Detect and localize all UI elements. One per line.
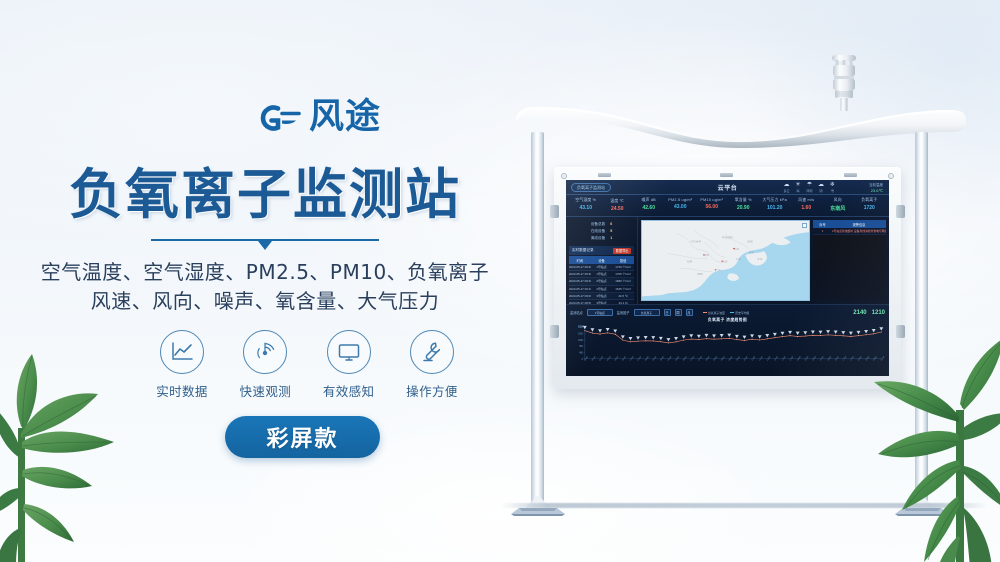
table-cell: 2023-05-17 09:00 [569,293,591,299]
table-cell: 1680 个/cm³ [612,278,634,284]
metric-cell: 氧含量 %20.90 [728,198,760,212]
svg-text:16:00: 16:00 [827,355,832,361]
range-button-month[interactable]: 月 [686,309,693,316]
metric-value: 24.50 [602,206,634,212]
feature-label: 快速观测 [231,381,299,400]
table-row[interactable]: 2023-05-17 09:102号站点1645 个/cm³ [569,286,634,293]
map-column: 乌鲁木齐呼和浩特 沈阳北京 西安拉萨 武汉上海 广州昆明 东京首尔 [638,217,813,304]
chart-legend: 负氧离子浓度历史平均值 [703,311,750,315]
station-select[interactable]: 1号站点 [587,309,613,316]
alarm-row[interactable]: 12号站点离线超时 设备离线请检查供电与网络 [813,228,886,235]
table-cell: 2023-05-17 09:30 [569,271,591,277]
svg-text:12:00: 12:00 [767,355,772,361]
chart-title: 负氧离子 浓度趋势图 [570,318,885,323]
feature-list: 实时数据 快速观测 有效感知 [148,330,466,400]
map-expand-button[interactable] [802,223,807,228]
metric-value: 101.20 [759,205,791,211]
table-cell: 1720 个/cm³ [612,264,634,270]
metric-label: 风向 [822,198,854,203]
weather-label: 阴 [817,189,826,193]
metric-label: PM10 ug/m³ [696,198,728,202]
svg-text:15:30: 15:30 [820,355,825,361]
weather-label: 多云 [782,189,791,193]
legend-swatch [730,312,734,314]
legend-item[interactable]: 历史平均值 [730,311,750,315]
table-header: 时间设备数值 [569,256,634,264]
sun-icon: ☀ [794,182,803,188]
metric-cell: PM2.5 ug/m³43.00 [665,198,697,212]
table-cell: 2023-05-17 09:40 [569,264,591,270]
dashboard-header: 负氧离子监测站 云平台 ☁ 多云 ☀ 晴 ☂ 阵雨 [566,180,889,195]
side-latch [550,205,559,218]
weather-label: 雪 [828,189,837,193]
table-cell: 1号站点 [591,264,613,270]
support-post-icon [915,132,928,504]
display-monitor: 负氧离子监测站 云平台 ☁ 多云 ☀ 晴 ☂ 阵雨 [554,167,901,389]
svg-text:呼和浩特: 呼和浩特 [722,236,733,239]
metric-value: 43.10 [570,205,602,211]
svg-text:昆明: 昆明 [697,272,703,275]
weather-item: ☀ 晴 [794,182,803,193]
svg-text:西安: 西安 [704,254,710,257]
metric-label: PM2.5 ug/m³ [665,198,697,202]
svg-text:广州: 广州 [715,269,721,272]
svg-text:19:30: 19:30 [881,355,885,361]
table-cell: 2023-05-17 09:20 [569,278,591,284]
alarm-index: 1 [813,228,832,234]
metric-cell: 大气压力 kPa101.20 [759,198,791,212]
metric-label: 大气压力 kPa [759,198,791,203]
metric-value: 20.90 [728,205,760,211]
svg-text:武汉: 武汉 [722,260,728,263]
feature-label: 操作方便 [398,381,466,400]
svg-text:拉萨: 拉萨 [687,260,693,263]
subtitle-line-1: 空气温度、空气湿度、PM2.5、PM10、负氧离子 [0,258,530,287]
side-latch [550,325,559,338]
alarm-col-message: 报警信息 [832,220,886,228]
table-column-header: 时间 [569,256,591,264]
weather-item: ☁ 多云 [782,182,791,193]
divider-triangle-icon [151,237,379,251]
current-temp-value: 23.6℃ [869,188,883,193]
support-post-icon [531,132,544,504]
metric-cell: 噪声 dB42.60 [633,198,665,212]
metric-label: 负氧离子 [854,198,886,203]
svg-text:18:30: 18:30 [865,355,870,361]
metric-value: 56.00 [696,204,728,210]
svg-text:14:30: 14:30 [805,355,810,361]
svg-text:960: 960 [579,346,583,348]
count-label: 在线设备 [591,229,605,234]
mount-tab [844,173,857,177]
device-counts: 设备总数6在线设备5离线设备1 [569,220,634,246]
side-latch [896,325,905,338]
svg-text:北京: 北京 [734,247,740,250]
mount-hole [561,173,567,179]
svg-text:03:00: 03:00 [630,355,635,361]
cloud-icon: ☁ [782,182,791,188]
feature-item-fast-observation[interactable]: 快速观测 [231,330,299,400]
metric-label: 温度 ℃ [602,198,634,204]
mount-tab [720,173,733,177]
map-panel[interactable]: 乌鲁木齐呼和浩特 沈阳北京 西安拉萨 武汉上海 广州昆明 东京首尔 [641,220,810,301]
feature-item-effective-sensing[interactable]: 有效感知 [315,330,383,400]
alarm-header: 序号 报警信息 [813,220,886,228]
subtitle: 空气温度、空气湿度、PM2.5、PM10、负氧离子 风速、风向、噪声、氧含量、大… [0,258,530,316]
weather-item: ❄ 雪 [828,182,837,193]
svg-text:01:30: 01:30 [607,355,612,361]
svg-text:东京: 东京 [757,257,763,260]
metric-cell: 风速 m/s1.60 [791,198,823,212]
svg-text:04:30: 04:30 [653,355,658,361]
svg-text:18:00: 18:00 [858,355,863,361]
svg-text:乌鲁木齐: 乌鲁木齐 [690,240,701,243]
variant-badge-label: 彩屏款 [266,421,338,453]
snow-icon: ❄ [828,182,837,188]
svg-text:13:30: 13:30 [789,355,794,361]
table-row[interactable]: 2023-05-17 09:401号站点1720 个/cm³ [569,264,634,271]
side-latch [896,205,905,218]
hero-text-panel: 风途 负氧离子监测站 空气温度、空气湿度、PM2.5、PM10、负氧离子 风速、… [0,0,530,562]
svg-text:14:00: 14:00 [797,355,802,361]
brand-name: 风途 [309,100,381,135]
chart-plot[interactable]: 0480960144019202400个/cm³00:0000:3001:000… [570,324,885,374]
page-title: 负氧离子监测站 [0,166,530,223]
count-row: 离线设备1 [569,236,634,241]
monitor-icon [327,330,371,374]
count-value: 5 [610,229,612,234]
chart-controls: 监测站点 1号站点 监测因子 负氧离子 日 周 月 负氧离子浓度历史平均值 21… [570,308,885,317]
metric-value: 1720 [854,205,886,211]
svg-text:17:00: 17:00 [843,355,848,361]
trend-line-chart: 0480960144019202400个/cm³00:0000:3001:000… [570,324,885,374]
svg-text:02:00: 02:00 [615,355,620,361]
metrics-strip: 空气湿度 %43.10温度 ℃24.50噪声 dB42.60PM2.5 ug/m… [566,195,889,217]
rain-icon: ☂ [805,182,814,188]
svg-text:11:30: 11:30 [759,355,764,361]
legend-swatch [703,312,707,314]
readout-max: 2140 [853,310,866,316]
count-label: 离线设备 [591,236,605,241]
svg-text:06:30: 06:30 [683,355,688,361]
table-cell: 2号站点 [591,286,613,292]
svg-text:16:30: 16:30 [835,355,840,361]
svg-text:1920: 1920 [578,333,583,335]
svg-text:03:30: 03:30 [637,355,642,361]
svg-text:07:00: 07:00 [691,355,696,361]
feature-item-realtime-data[interactable]: 实时数据 [148,330,216,400]
svg-text:15:00: 15:00 [812,355,817,361]
wave-canopy-icon [513,98,968,150]
range-button-week[interactable]: 周 [675,309,682,316]
weather-label: 阵雨 [805,189,814,193]
table-title: 实时数据记录 [572,248,594,253]
mount-hole [888,173,894,179]
svg-text:12:30: 12:30 [774,355,779,361]
station-select-label: 监测站点 [570,310,583,315]
left-column: 设备总数6在线设备5离线设备1 实时数据记录 数据导出 时间设备数值 2023-… [566,217,638,304]
svg-text:19:00: 19:00 [873,355,878,361]
factor-select-label: 监测因子 [617,310,630,315]
weather-item: ☁ 阴 [817,182,826,193]
metric-cell: PM10 ug/m³56.00 [696,198,728,212]
metric-label: 氧含量 % [728,198,760,203]
table-toolbar: 实时数据记录 数据导出 [569,246,634,255]
table-cell: 3号站点 [591,293,613,299]
current-temp-readout: 当前温度 23.6℃ [869,183,883,193]
legend-label: 历史平均值 [735,311,749,315]
gf-logo-icon [258,101,302,135]
metric-label: 风速 m/s [791,198,823,203]
alarm-empty-area [813,235,886,301]
metric-value: 42.60 [633,205,665,211]
count-row: 设备总数6 [569,222,634,227]
count-label: 设备总数 [591,222,605,227]
svg-text:09:30: 09:30 [729,355,734,361]
metric-label: 空气湿度 % [570,198,602,203]
svg-text:首尔: 首尔 [749,251,755,254]
count-value: 1 [610,236,612,241]
chart-readout: 2140 1210 [853,310,885,316]
svg-text:11:00: 11:00 [751,355,756,361]
metric-cell: 温度 ℃24.50 [602,198,634,212]
metric-cell: 负氧离子1720 [854,198,886,212]
dashboard-title: 云平台 [566,183,889,192]
alarm-column: 序号 报警信息 12号站点离线超时 设备离线请检查供电与网络 [813,217,889,304]
table-cell: 1号站点 [591,271,613,277]
radar-signal-icon [243,330,287,374]
count-row: 在线设备5 [569,229,634,234]
svg-text:07:30: 07:30 [698,355,703,361]
svg-text:05:30: 05:30 [668,355,673,361]
factor-select[interactable]: 负氧离子 [634,309,660,316]
range-button-day[interactable]: 日 [664,309,671,316]
export-button[interactable]: 数据导出 [613,248,631,254]
metric-cell: 空气湿度 %43.10 [570,198,602,212]
weather-item: ☂ 阵雨 [805,182,814,193]
subtitle-line-2: 风速、风向、噪声、氧含量、大气压力 [0,287,530,316]
china-map-icon: 乌鲁木齐呼和浩特 沈阳北京 西安拉萨 武汉上海 广州昆明 东京首尔 [642,221,809,300]
table-column-header: 设备 [591,256,613,264]
feature-label: 有效感知 [315,381,383,400]
svg-text:1440: 1440 [578,340,583,342]
weather-label: 晴 [794,189,803,193]
chart-section: 监测站点 1号站点 监测因子 负氧离子 日 周 月 负氧离子浓度历史平均值 21… [566,304,889,376]
readout-min: 1210 [872,310,885,316]
svg-text:13:00: 13:00 [782,355,787,361]
feature-label: 实时数据 [148,381,216,400]
svg-text:05:00: 05:00 [660,355,665,361]
table-cell: 1705 个/cm³ [612,271,634,277]
count-value: 6 [610,222,612,227]
metric-cell: 风向东南风 [822,198,854,212]
metric-value: 43.00 [665,204,697,210]
svg-text:10:00: 10:00 [736,355,741,361]
table-column-header: 数值 [612,256,634,264]
table-row[interactable]: 2023-05-17 09:003号站点24.5 ℃ [569,293,634,300]
monitoring-station-product: 负氧离子监测站 云平台 ☁ 多云 ☀ 晴 ☂ 阵雨 [505,40,975,530]
table-cell: 24.5 ℃ [612,293,634,299]
legend-label: 负氧离子浓度 [708,311,725,315]
alarm-col-index: 序号 [813,220,832,228]
dashboard-screen[interactable]: 负氧离子监测站 云平台 ☁ 多云 ☀ 晴 ☂ 阵雨 [566,180,889,376]
feature-item-easy-operation[interactable]: 操作方便 [398,330,466,400]
svg-text:17:30: 17:30 [850,355,855,361]
svg-text:00:30: 00:30 [592,355,597,361]
table-row[interactable]: 2023-05-17 09:202号站点1680 个/cm³ [569,278,634,285]
svg-text:06:00: 06:00 [675,355,680,361]
svg-text:480: 480 [579,352,583,354]
table-row[interactable]: 2023-05-17 09:301号站点1705 个/cm³ [569,271,634,278]
alarm-message: 2号站点离线超时 设备离线请检查供电与网络 [832,228,886,234]
table-cell: 1645 个/cm³ [612,286,634,292]
svg-text:08:00: 08:00 [706,355,711,361]
variant-badge-button[interactable]: 彩屏款 [225,416,380,458]
wrench-icon [410,330,454,374]
svg-text:09:00: 09:00 [721,355,726,361]
line-chart-icon [160,330,204,374]
weather-icon-row: ☁ 多云 ☀ 晴 ☂ 阵雨 ☁ 阴 [782,182,837,193]
svg-text:08:30: 08:30 [713,355,718,361]
ground-line [501,503,987,508]
metric-value: 东南风 [822,205,854,212]
table-cell: 2号站点 [591,278,613,284]
metric-value: 1.60 [791,205,823,211]
metric-label: 噪声 dB [633,198,665,203]
overcast-icon: ☁ [817,182,826,188]
brand-logo: 风途 [258,100,381,135]
dashboard-body: 设备总数6在线设备5离线设备1 实时数据记录 数据导出 时间设备数值 2023-… [566,217,889,304]
svg-text:10:30: 10:30 [744,355,749,361]
svg-text:沈阳: 沈阳 [747,240,753,243]
mount-tab [598,173,611,177]
svg-text:04:00: 04:00 [645,355,650,361]
legend-item[interactable]: 负氧离子浓度 [703,311,725,315]
table-cell: 2023-05-17 09:10 [569,286,591,292]
divider [0,237,530,251]
alarm-body: 12号站点离线超时 设备离线请检查供电与网络 [813,228,886,235]
svg-text:01:00: 01:00 [599,355,604,361]
svg-text:02:30: 02:30 [622,355,627,361]
svg-text:上海: 上海 [736,257,742,260]
